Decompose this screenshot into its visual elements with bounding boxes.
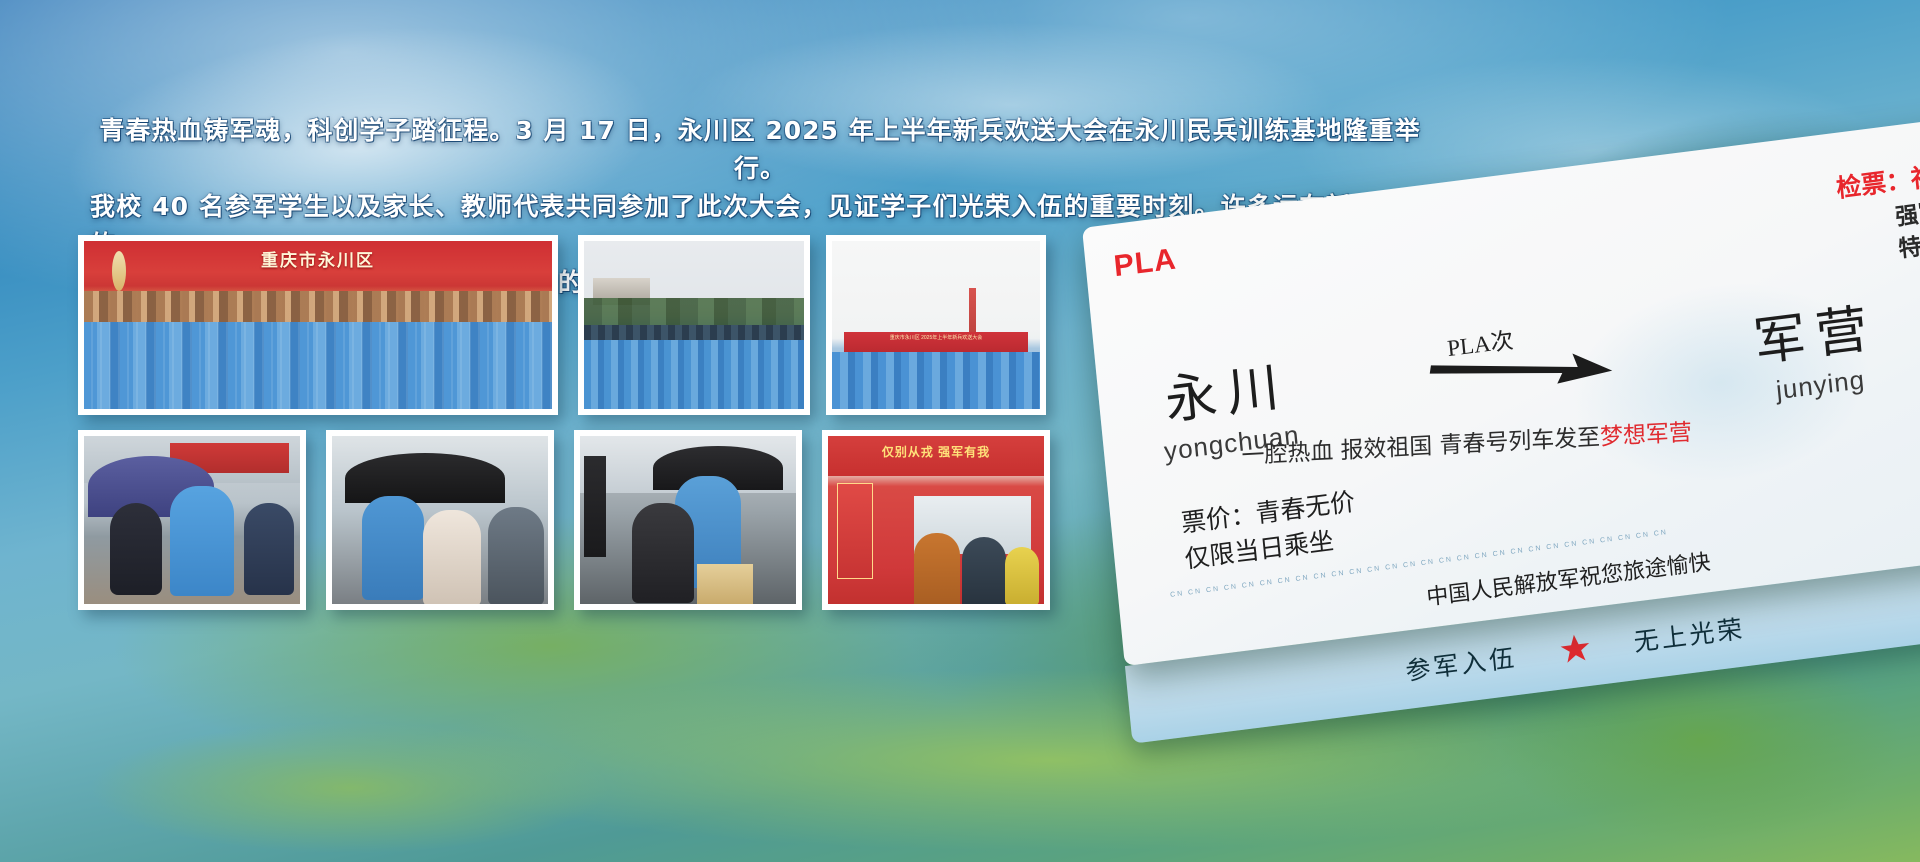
photo-card-ranks-in-rain[interactable] — [578, 235, 810, 415]
photo-card-couple-farewell[interactable] — [574, 430, 802, 610]
photo-card-red-arch-group[interactable]: 仅别从戎 强军有我 — [822, 430, 1050, 610]
photo-image-umbrella — [84, 436, 300, 604]
photo-person-child — [244, 503, 294, 595]
photo-image-couple — [580, 436, 796, 604]
photo-treeline — [584, 298, 804, 325]
photo-ranks-rows — [584, 325, 804, 409]
ticket-origin-cn: 永川 — [1155, 343, 1297, 435]
headline-line-1: 青春热血铸军魂，科创学子踏征程。3 月 17 日，永川区 2025 年上半年新兵… — [90, 112, 1430, 188]
photo-arch-caption: 仅别从戎 强军有我 — [841, 443, 1031, 460]
photo-person-white-coat — [423, 510, 481, 604]
photo-umbrella-black — [345, 453, 505, 503]
photo-person-orange — [914, 533, 960, 604]
ticket-destination-station: 军营 junying — [1750, 285, 1884, 408]
photo-person-dark — [110, 503, 162, 595]
ticket-destination-cn: 军营 — [1750, 285, 1880, 375]
photo-crowd-rows — [84, 291, 552, 409]
photo-flowers-yellow — [1005, 547, 1039, 604]
ticket-slogan: 一腔热血 报效祖国 青春号列车发至梦想军营 — [1241, 403, 1880, 470]
photo-pole — [584, 456, 606, 557]
photo-person-family — [632, 503, 694, 603]
photo-card-family-farewell-umbrella[interactable] — [78, 430, 306, 610]
photo-arch-column-left — [837, 483, 874, 579]
photo-ceremony-rows — [832, 352, 1040, 409]
photo-person-grey — [488, 507, 544, 604]
ticket-slogan-highlight: 梦想军营 — [1600, 420, 1692, 451]
photo-image-group-photo: 重庆市永川区 — [84, 241, 552, 409]
photo-card-group-photo[interactable]: 重庆市永川区 — [78, 235, 558, 415]
photo-prop-left — [112, 251, 126, 291]
poster-canvas: 青春热血铸军魂，科创学子踏征程。3 月 17 日，永川区 2025 年上半年新兵… — [0, 0, 1920, 862]
photo-image-black-umbrella — [332, 436, 548, 604]
photo-person-recruit-2 — [362, 496, 424, 600]
photo-card-black-umbrella[interactable] — [326, 430, 554, 610]
photo-flower-basket — [697, 564, 753, 604]
ink-wash-green-corner — [1420, 600, 1920, 862]
photo-person-soldier — [962, 537, 1006, 604]
photo-banner-caption: 重庆市永川区 — [84, 246, 552, 271]
photo-image-red-arch: 仅别从戎 强军有我 — [828, 436, 1044, 604]
ink-wash-green-footer — [0, 700, 700, 862]
photo-stage-caption: 重庆市永川区 2025年上半年新兵欢送大会 — [844, 332, 1027, 343]
photo-person-recruit — [170, 486, 234, 596]
ticket-direction-arrow: PLA次 — [1424, 312, 1619, 406]
photo-card-ceremony-stage[interactable]: 重庆市永川区 2025年上半年新兵欢送大会 — [826, 235, 1046, 415]
ticket-brand-label: PLA — [1112, 242, 1178, 284]
photo-banner-red: 重庆市永川区 — [84, 241, 552, 298]
photo-stage-banner: 重庆市永川区 2025年上半年新兵欢送大会 — [844, 332, 1027, 352]
photo-image-ceremony: 重庆市永川区 2025年上半年新兵欢送大会 — [832, 241, 1040, 409]
photo-image-ranks — [584, 241, 804, 409]
